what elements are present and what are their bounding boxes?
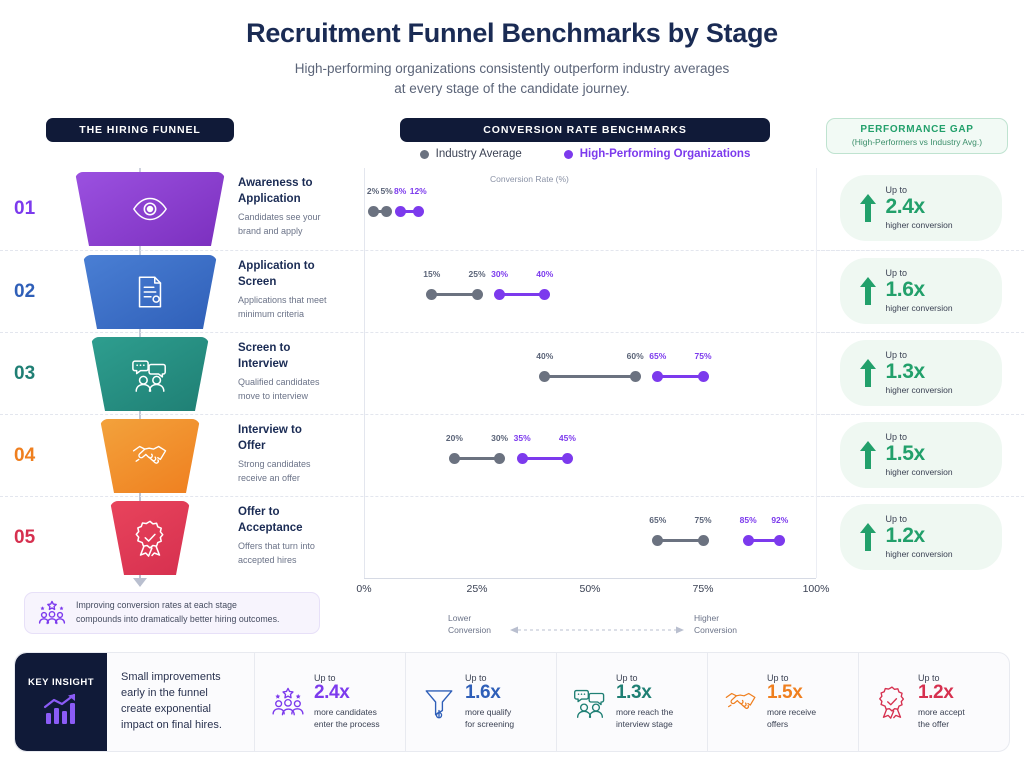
range-end-dot [774, 535, 785, 546]
stage-title-line-1: Application to [238, 259, 350, 275]
stage-text: Application toScreenApplications that me… [238, 259, 350, 321]
range-start-dot [494, 289, 505, 300]
performance-gap-card[interactable]: Up to1.6xhigher conversion [840, 258, 1002, 324]
footer-metric-value: 1.5x [767, 683, 816, 704]
range-end-dot [494, 453, 505, 464]
range-low-label: 35% [514, 433, 531, 443]
range-high-label: 12% [410, 186, 427, 196]
stage-benchmark-chart: 15%25%30%40% [364, 251, 816, 333]
range-high-label: 40% [536, 269, 553, 279]
range-high-label: 75% [694, 515, 711, 525]
stage-title: Screen toInterview [238, 341, 350, 372]
stage-text: Interview toOfferStrong candidatesreceiv… [238, 423, 350, 485]
range-start-dot [395, 206, 406, 217]
range-start-dot [539, 371, 550, 382]
stage-title: Application toScreen [238, 259, 350, 290]
footer-metric-sub-line-2: for screening [465, 718, 514, 731]
benchmarks-column-header: CONVERSION RATE BENCHMARKS [400, 118, 770, 142]
footer-metric-value: 2.4x [314, 683, 380, 704]
gap-value: 1.3x [886, 360, 953, 384]
footer-metric-item[interactable]: Up to1.6xmore qualifyfor screening [405, 653, 556, 751]
chat-people-icon [573, 685, 607, 719]
stage-number: 01 [14, 198, 35, 220]
footer-metric-item[interactable]: Up to1.5xmore receiveoffers [707, 653, 858, 751]
page-subtitle: High-performing organizations consistent… [0, 59, 1024, 98]
stage-desc-line-1: Applications that meet [238, 294, 350, 308]
stage-desc-line-1: Candidates see your [238, 211, 350, 225]
range-bar [500, 293, 545, 296]
funnel-segment[interactable] [83, 255, 217, 329]
stage-desc-line-2: brand and apply [238, 225, 350, 239]
footer-metric-sub-line-1: more qualify [465, 706, 514, 719]
direction-lower-line-1: Lower [448, 612, 491, 624]
gap-sublabel: higher conversion [886, 304, 953, 314]
eye-icon [131, 190, 169, 228]
page-title: Recruitment Funnel Benchmarks by Stage [0, 0, 1024, 49]
legend-dot-icon [564, 150, 573, 159]
gap-upto-label: Up to [886, 432, 953, 442]
range-high-label: 5% [380, 186, 392, 196]
range-bar [432, 293, 477, 296]
gap-upto-label: Up to [886, 514, 953, 524]
stage-title-line-2: Interview [238, 357, 350, 373]
gap-sublabel: higher conversion [886, 550, 953, 560]
gap-sublabel: higher conversion [886, 221, 953, 231]
funnel-segment-wrapper [60, 170, 240, 248]
funnel-segment-wrapper [60, 335, 240, 413]
range-start-dot [368, 206, 379, 217]
performance-gap-cell: Up to2.4xhigher conversion [817, 168, 1024, 250]
performance-gap-card[interactable]: Up to1.5xhigher conversion [840, 422, 1002, 488]
footer-metric-item[interactable]: Up to1.2xmore acceptthe offer [858, 653, 1009, 751]
range-high-label: 92% [771, 515, 788, 525]
range-high-label: 30% [491, 433, 508, 443]
stage-description: Applications that meetminimum criteria [238, 294, 350, 321]
subtitle-line-2: at every stage of the candidate journey. [0, 79, 1024, 99]
direction-lower-line-2: Conversion [448, 624, 491, 636]
performance-gap-column: Up to2.4xhigher conversionUp to1.6xhighe… [816, 168, 1024, 578]
range-start-dot [652, 535, 663, 546]
range-end-dot [539, 289, 550, 300]
gap-value: 1.6x [886, 278, 953, 302]
stage-desc-line-1: Qualified candidates [238, 376, 350, 390]
direction-higher-line-1: Higher [694, 612, 737, 624]
range-high-label: 60% [627, 351, 644, 361]
footer-metric-value: 1.2x [918, 683, 965, 704]
stage-title-line-1: Awareness to [238, 176, 350, 192]
range-start-dot [449, 453, 460, 464]
footer-metric-sub: more candidatesenter the process [314, 706, 380, 732]
funnel-icon [422, 685, 456, 719]
range-low-label: 15% [423, 269, 440, 279]
stage-number: 04 [14, 445, 35, 467]
funnel-segment[interactable] [91, 337, 209, 411]
performance-gap-cell: Up to1.6xhigher conversion [817, 250, 1024, 332]
stage-title-line-2: Application [238, 192, 350, 208]
performance-gap-cell: Up to1.2xhigher conversion [817, 496, 1024, 578]
funnel-segment-wrapper [60, 499, 240, 577]
stage-title-line-2: Offer [238, 439, 350, 455]
range-low-label: 85% [740, 515, 757, 525]
footer-metric-sub: more reach theinterview stage [616, 706, 673, 732]
stage-description: Qualified candidatesmove to interview [238, 376, 350, 403]
range-low-label: 2% [367, 186, 379, 196]
up-arrow-icon [860, 277, 876, 305]
stage-benchmark-chart: 40%60%65%75% [364, 333, 816, 415]
chart-legend: Industry Average High-Performing Organiz… [400, 148, 770, 160]
footer-metric-sub-line-1: more reach the [616, 706, 673, 719]
performance-gap-card[interactable]: Up to1.2xhigher conversion [840, 504, 1002, 570]
stage-title-line-1: Interview to [238, 423, 350, 439]
footer-metric-value: 1.6x [465, 683, 514, 704]
direction-arrow-icon [510, 626, 684, 634]
range-low-label: 65% [649, 515, 666, 525]
stage-title: Interview toOffer [238, 423, 350, 454]
range-start-dot [517, 453, 528, 464]
range-bar [454, 457, 499, 460]
x-axis-tick-label: 75% [692, 583, 713, 595]
stage-text: Offer toAcceptanceOffers that turn intoa… [238, 505, 350, 567]
footer-summary: KEY INSIGHT Small improvements early in … [14, 652, 1010, 752]
funnel-segment[interactable] [110, 501, 190, 575]
stage-text: Screen toInterviewQualified candidatesmo… [238, 341, 350, 403]
performance-gap-cell: Up to1.3xhigher conversion [817, 332, 1024, 414]
stage-desc-line-2: accepted hires [238, 554, 350, 568]
range-low-label: 65% [649, 351, 666, 361]
gap-sublabel: higher conversion [886, 468, 953, 478]
direction-higher-line-2: Conversion [694, 624, 737, 636]
stage-title-line-2: Acceptance [238, 521, 350, 537]
range-start-dot [426, 289, 437, 300]
gap-upto-label: Up to [886, 185, 953, 195]
legend-dot-icon [420, 150, 429, 159]
footer-metric-item[interactable]: Up to1.3xmore reach theinterview stage [556, 653, 707, 751]
stage-description: Candidates see yourbrand and apply [238, 211, 350, 238]
stage-number: 05 [14, 527, 35, 549]
range-end-dot [562, 453, 573, 464]
stage-title: Awareness toApplication [238, 176, 350, 207]
legend-label-industry: Industry Average [436, 148, 522, 160]
funnel-segment[interactable] [100, 419, 200, 493]
handshake-icon [131, 437, 169, 475]
growth-chart-icon [41, 693, 81, 727]
range-low-label: 8% [394, 186, 406, 196]
range-end-dot [698, 371, 709, 382]
gap-value: 1.5x [886, 442, 953, 466]
stage-description: Offers that turn intoaccepted hires [238, 540, 350, 567]
subtitle-line-1: High-performing organizations consistent… [0, 59, 1024, 79]
key-insight-label: KEY INSIGHT [28, 677, 94, 688]
footer-metric-sub-line-2: interview stage [616, 718, 673, 731]
up-arrow-icon [860, 523, 876, 551]
stage-benchmark-chart: 2%5%8%12% [364, 168, 816, 250]
handshake-icon [724, 685, 758, 719]
stage-number: 03 [14, 363, 35, 385]
stage-desc-line-1: Offers that turn into [238, 540, 350, 554]
x-axis-tick-label: 25% [466, 583, 487, 595]
performance-gap-card[interactable]: Up to1.3xhigher conversion [840, 340, 1002, 406]
footer-metric-sub-line-1: more candidates [314, 706, 380, 719]
insight-note-text: Improving conversion rates at each stage… [76, 599, 279, 626]
range-start-dot [743, 535, 754, 546]
range-end-dot [698, 535, 709, 546]
range-low-label: 30% [491, 269, 508, 279]
funnel-spine-arrow-icon [133, 578, 147, 587]
range-low-label: 40% [536, 351, 553, 361]
funnel-segment-wrapper [60, 417, 240, 495]
legend-item-high-performing: High-Performing Organizations [564, 148, 751, 160]
stage-desc-line-2: move to interview [238, 390, 350, 404]
stage-benchmark-chart: 20%30%35%45% [364, 415, 816, 497]
stage-title: Offer toAcceptance [238, 505, 350, 536]
performance-gap-cell: Up to1.5xhigher conversion [817, 414, 1024, 496]
x-axis-tick-label: 50% [579, 583, 600, 595]
range-end-dot [381, 206, 392, 217]
funnel-column-header: THE HIRING FUNNEL [46, 118, 234, 142]
stage-title-line-1: Screen to [238, 341, 350, 357]
gap-sublabel: higher conversion [886, 386, 953, 396]
insight-note-line-1: Improving conversion rates at each stage [76, 599, 279, 613]
footer-metric-value: 1.3x [616, 683, 673, 704]
footer-metric-sub-line-2: the offer [918, 718, 965, 731]
direction-lower-label: Lower Conversion [448, 612, 491, 637]
range-bar [658, 375, 703, 378]
range-high-label: 45% [559, 433, 576, 443]
x-axis-labels: 0%25%50%75%100% [364, 579, 816, 599]
stage-text: Awareness toApplicationCandidates see yo… [238, 176, 350, 238]
legend-item-industry-average: Industry Average [420, 148, 522, 160]
stage-title-line-1: Offer to [238, 505, 350, 521]
range-end-dot [630, 371, 641, 382]
chat-people-icon [131, 355, 169, 393]
gap-header-line-1: PERFORMANCE GAP [860, 124, 973, 137]
performance-gap-card[interactable]: Up to2.4xhigher conversion [840, 175, 1002, 241]
up-arrow-icon [860, 194, 876, 222]
footer-metric-sub-line-2: offers [767, 718, 816, 731]
stage-desc-line-1: Strong candidates [238, 458, 350, 472]
funnel-segment-wrapper [60, 253, 240, 331]
gap-value: 2.4x [886, 195, 953, 219]
footer-metric-sub-line-2: enter the process [314, 718, 380, 731]
range-end-dot [413, 206, 424, 217]
direction-higher-label: Higher Conversion [694, 612, 737, 637]
gap-value: 1.2x [886, 524, 953, 548]
footer-metric-sub-line-1: more accept [918, 706, 965, 719]
range-bar [658, 539, 703, 542]
footer-metric-sub: more qualifyfor screening [465, 706, 514, 732]
range-end-dot [472, 289, 483, 300]
stage-desc-line-2: receive an offer [238, 472, 350, 486]
funnel-segment[interactable] [75, 172, 225, 246]
x-axis-tick-label: 0% [356, 583, 371, 595]
footer-metrics: Up to2.4xmore candidatesenter the proces… [255, 653, 1009, 751]
people-star-icon [271, 685, 305, 719]
award-ribbon-icon [131, 519, 169, 557]
stage-title-line-2: Screen [238, 275, 350, 291]
range-high-label: 75% [694, 351, 711, 361]
performance-gap-column-header: PERFORMANCE GAP (High-Performers vs Indu… [826, 118, 1008, 154]
infographic-page: Recruitment Funnel Benchmarks by Stage H… [0, 0, 1024, 768]
range-high-label: 25% [468, 269, 485, 279]
gap-header-line-2: (High-Performers vs Industry Avg.) [852, 137, 982, 148]
direction-indicator: Lower Conversion Higher Conversion [364, 610, 816, 644]
footer-metric-sub-line-1: more receive [767, 706, 816, 719]
stage-number: 02 [14, 281, 35, 303]
gap-upto-label: Up to [886, 268, 953, 278]
document-icon [131, 273, 169, 311]
range-bar [545, 375, 635, 378]
footer-metric-sub: more acceptthe offer [918, 706, 965, 732]
range-bar [522, 457, 567, 460]
insight-note: Improving conversion rates at each stage… [24, 592, 320, 634]
footer-metric-sub: more receiveoffers [767, 706, 816, 732]
up-arrow-icon [860, 359, 876, 387]
insight-note-line-2: compounds into dramatically better hirin… [76, 613, 279, 627]
key-insight-text: Small improvements early in the funnel c… [107, 653, 255, 751]
gap-upto-label: Up to [886, 350, 953, 360]
stage-desc-line-2: minimum criteria [238, 308, 350, 322]
up-arrow-icon [860, 441, 876, 469]
x-axis: 0%25%50%75%100% [364, 578, 816, 599]
award-ribbon-icon [875, 685, 909, 719]
range-low-label: 20% [446, 433, 463, 443]
range-start-dot [652, 371, 663, 382]
stage-benchmark-chart: 65%75%85%92% [364, 497, 816, 579]
people-star-icon [37, 599, 67, 627]
key-insight-badge: KEY INSIGHT [15, 653, 107, 751]
footer-metric-item[interactable]: Up to2.4xmore candidatesenter the proces… [255, 653, 405, 751]
x-axis-tick-label: 100% [803, 583, 830, 595]
stage-description: Strong candidatesreceive an offer [238, 458, 350, 485]
legend-label-high-performing: High-Performing Organizations [580, 148, 751, 160]
